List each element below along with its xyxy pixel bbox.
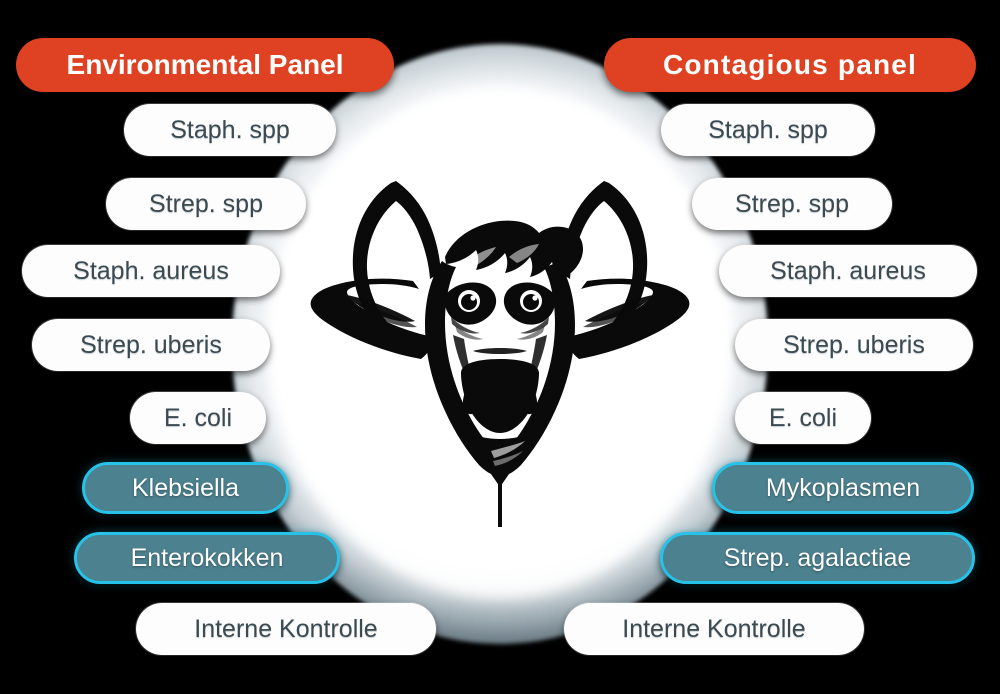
left-item-interne-kontrolle[interactable]: Interne Kontrolle: [136, 603, 436, 655]
cow-head-icon: [295, 165, 705, 540]
right-panel-header: Contagious panel: [604, 38, 976, 92]
left-item-enterokokken[interactable]: Enterokokken: [74, 532, 340, 584]
left-item-strep-uberis[interactable]: Strep. uberis: [32, 319, 270, 371]
right-item-strep-uberis[interactable]: Strep. uberis: [735, 319, 973, 371]
panel-comparison-graphic: Environmental Panel Staph. spp Strep. sp…: [0, 0, 1000, 694]
left-item-e-coli[interactable]: E. coli: [130, 392, 266, 444]
right-item-staph-aureus[interactable]: Staph. aureus: [719, 245, 977, 297]
left-item-staph-spp[interactable]: Staph. spp: [124, 104, 336, 156]
right-item-e-coli[interactable]: E. coli: [735, 392, 871, 444]
right-item-staph-spp[interactable]: Staph. spp: [661, 104, 875, 156]
left-item-staph-aureus[interactable]: Staph. aureus: [22, 245, 280, 297]
right-item-strep-agalactiae[interactable]: Strep. agalactiae: [660, 532, 975, 584]
right-item-mykoplasmen[interactable]: Mykoplasmen: [712, 462, 974, 514]
left-item-klebsiella[interactable]: Klebsiella: [82, 462, 289, 514]
right-item-interne-kontrolle[interactable]: Interne Kontrolle: [564, 603, 864, 655]
left-panel-header: Environmental Panel: [16, 38, 394, 92]
right-item-strep-spp[interactable]: Strep. spp: [692, 178, 892, 230]
left-item-strep-spp[interactable]: Strep. spp: [106, 178, 306, 230]
